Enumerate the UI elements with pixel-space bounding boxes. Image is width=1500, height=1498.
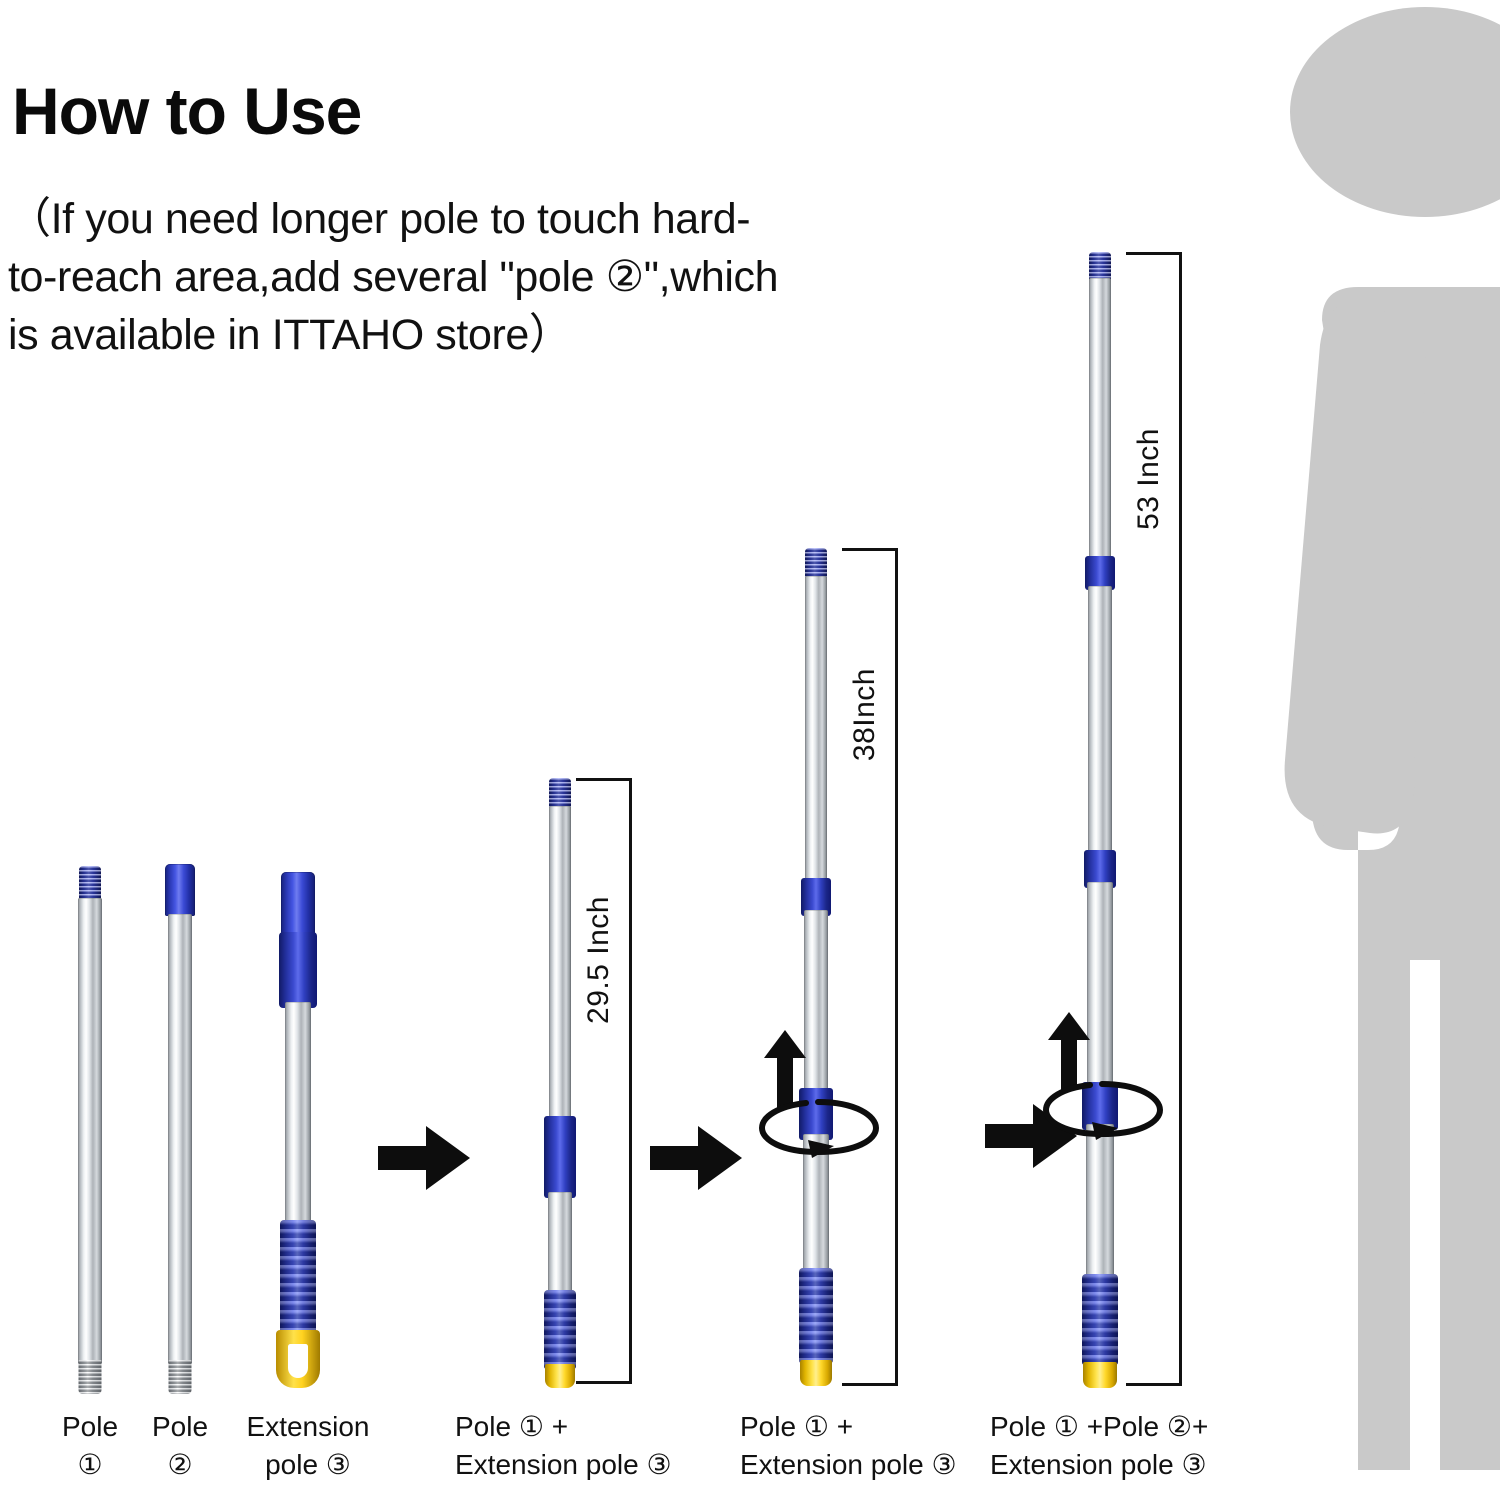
dimension-53-inch: 53 Inch bbox=[1110, 252, 1182, 1386]
assembly-2-tube-upper bbox=[805, 576, 827, 896]
dimension-label-53: 53 Inch bbox=[1132, 428, 1166, 530]
caption-assembly-1: Pole ① + Extension pole ③ bbox=[455, 1408, 755, 1484]
dim-tick-top bbox=[842, 548, 898, 551]
pole-1-tube bbox=[78, 898, 102, 1364]
dimension-29-5-inch: 29.5 Inch bbox=[560, 778, 632, 1384]
part-pole-2 bbox=[158, 864, 202, 1396]
extension-pole-tube bbox=[285, 1002, 311, 1232]
pole-2-blue-cap bbox=[165, 864, 195, 916]
step-arrow-1 bbox=[378, 1122, 470, 1194]
how-to-use-diagram: How to Use （If you need longer pole to t… bbox=[0, 0, 1500, 1498]
assembly-3-threaded-tip bbox=[1089, 252, 1111, 280]
part-pole-1 bbox=[68, 866, 112, 1396]
dim-vertical-line bbox=[629, 778, 632, 1384]
assembly-2-tube-mid bbox=[804, 910, 828, 1098]
part-extension-pole-3 bbox=[270, 872, 326, 1384]
person-standing-silhouette bbox=[1240, 0, 1500, 1498]
extension-pole-grip bbox=[280, 1220, 316, 1338]
instruction-paragraph: （If you need longer pole to touch hard- … bbox=[8, 190, 1008, 364]
dim-tick-bottom bbox=[1126, 1383, 1182, 1386]
caption-assembly-3: Pole ① +Pole ②+ Extension pole ③ bbox=[990, 1408, 1310, 1484]
pole-1-threaded-tip bbox=[79, 866, 101, 900]
extension-pole-loop-hole bbox=[288, 1344, 308, 1378]
pole-2-threaded-end bbox=[169, 1360, 192, 1394]
caption-extension-pole-3: Extension pole ③ bbox=[228, 1408, 388, 1484]
instruction-line-1: （If you need longer pole to touch hard- bbox=[8, 190, 1008, 248]
dimension-label-29-5: 29.5 Inch bbox=[582, 896, 616, 1024]
dimension-38-inch: 38Inch bbox=[826, 548, 898, 1386]
extension-pole-collar bbox=[279, 932, 317, 1008]
extension-pole-blue-cap bbox=[281, 872, 315, 934]
pole-1-threaded-end bbox=[79, 1360, 102, 1394]
step-arrow-2 bbox=[650, 1122, 742, 1194]
pole-2-tube bbox=[168, 914, 192, 1364]
assembly-3-tube-1 bbox=[1089, 278, 1111, 580]
assembly-3-tube-2 bbox=[1088, 586, 1112, 866]
dim-tick-bottom bbox=[576, 1381, 632, 1384]
dim-vertical-line bbox=[895, 548, 898, 1386]
dim-tick-top bbox=[1126, 252, 1182, 255]
dim-tick-bottom bbox=[842, 1383, 898, 1386]
caption-pole-2: Pole ② bbox=[120, 1408, 240, 1484]
instruction-line-2: to-reach area,add several "pole ②",which bbox=[8, 248, 1008, 306]
assembly-2-threaded-tip bbox=[805, 548, 827, 578]
dim-tick-top bbox=[576, 778, 632, 781]
instruction-line-3: is available in ITTAHO store） bbox=[8, 306, 1008, 364]
page-title: How to Use bbox=[12, 78, 361, 144]
dimension-label-38: 38Inch bbox=[848, 668, 882, 761]
dim-vertical-line bbox=[1179, 252, 1182, 1386]
